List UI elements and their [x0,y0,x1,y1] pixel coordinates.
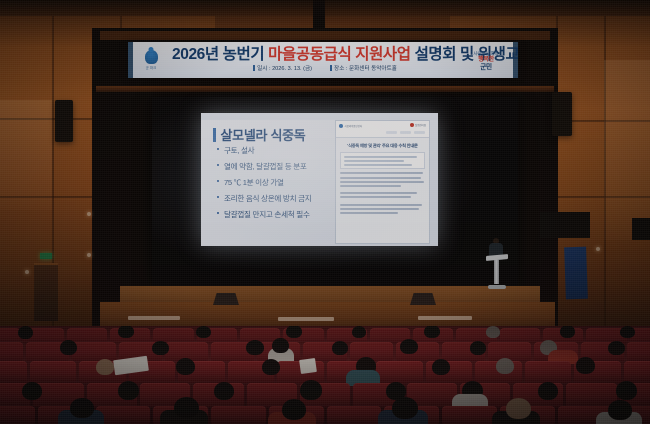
audience-head [214,382,234,400]
event-banner: 군 마크 2026년 농번기 마을공동급식 지원사업 설명회 및 위생교육 일시… [128,42,518,78]
audience-head [470,341,486,355]
banner-slogan: 사람중심 희망 행복한 군민 [463,48,509,72]
audience-head [70,398,94,418]
text-line [340,212,398,214]
audience-head [620,326,635,338]
bullet-tick-icon [330,65,332,71]
podium-base [488,285,506,289]
apron-panel-strip [128,316,180,320]
document-agency-logo-right: 질병관리청 [410,123,427,127]
seat [488,342,531,361]
banner-left-edge [128,42,133,78]
audience-head [424,326,440,338]
stage-monitor-wedge [213,293,239,305]
audience-head [300,380,322,400]
banner-date-label: 일시 : 2026. 3. 13. (금) [257,64,312,72]
document-header: 식품의약품안전처 질병관리청 [336,121,429,138]
banner-date: 일시 : 2026. 3. 13. (금) [253,64,312,72]
blue-wall-panel [564,247,588,300]
slide-top-band [201,113,438,120]
banner-place-label: 장소 : 문화센터 동악아트홀 [334,64,397,72]
slide-title: 살모넬라 식중독 [221,125,306,144]
county-emblem-logo: 군 마크 [137,47,165,73]
emblem-caption: 군 마크 [146,65,156,70]
audience-head [538,382,558,400]
auditorium-photo: 군 마크 2026년 농번기 마을공동급식 지원사업 설명회 및 위생교육 일시… [0,0,650,424]
slide-bullet-item: 열에 약함, 달걀껍질 등 분포 [217,161,342,172]
wall-dark-panel [632,218,650,240]
banner-title-part-1: 2026년 농번기 [172,46,268,63]
stage-monitor-wedge [410,293,436,305]
text-line [344,164,413,166]
audience-head [608,400,632,420]
audience-head [262,359,280,375]
audience-head [506,398,531,419]
banner-place: 장소 : 문화센터 동악아트홀 [330,64,397,72]
podium-column [494,260,499,284]
seat [72,342,115,361]
seat [30,361,77,383]
audience-head [152,341,169,355]
document-callout-box [340,152,425,169]
seat [211,406,266,424]
text-line [340,177,421,179]
slide-title-group: 살모넬라 식중독 [213,125,305,144]
audience-head [174,397,199,418]
handout-paper [299,358,317,374]
seat [627,342,650,361]
audience-area [0,326,650,424]
audience-head [400,339,418,354]
audience-head [60,340,77,355]
audience-head [196,326,211,338]
document-body [340,172,425,214]
wall-light-fixture [25,270,29,274]
seat [0,342,23,361]
wall-light-fixture [596,247,600,251]
text-line [344,160,405,162]
text-line [340,172,423,174]
nav-chip [386,131,397,134]
document-agency-logo-left: 식품의약품안전처 [339,124,362,128]
audience-head [432,359,450,375]
audience-head [332,341,348,355]
text-line [340,192,417,194]
exit-sign [40,253,52,259]
slogan-line-3: 군민 [480,64,492,71]
wall-seam [604,0,606,340]
slide-bullet-item: 75 ℃ 1분 이상 가열 [217,177,342,188]
text-line [340,181,424,183]
audience-head [246,340,264,355]
audience-head [18,326,33,339]
banner-title-part-2: 마을공동급식 지원사업 [268,46,411,63]
ceiling-shadow-band [0,0,650,16]
side-exit-door [34,263,58,321]
wall-speaker [552,92,572,136]
text-line [344,156,417,158]
text-line [340,204,422,206]
seat [624,361,650,383]
audience-head [392,397,418,419]
agency-emblem-icon [410,123,414,127]
audience-head [576,357,595,374]
seat [442,406,497,424]
seat [0,361,27,383]
banner-subtitle: 일시 : 2026. 3. 13. (금) 장소 : 문화센터 동악아트홀 [172,64,478,72]
slide-bullet-item: 구토, 설사 [217,145,342,156]
wall-speaker [55,100,73,142]
text-line [340,196,411,198]
proscenium-ledge [96,86,554,92]
wall-light-fixture [87,253,91,257]
audience-head [496,358,514,374]
apron-panel-strip [278,317,334,321]
slogan-line-1: 사람중심 희망 [473,50,498,57]
agency-emblem-icon [339,124,343,128]
audience-head [608,341,625,355]
text-line [340,208,419,210]
audience-head [118,326,134,338]
emblem-icon [145,50,158,64]
slide-bullet-item: 달걀껍질 만지고 손세척 필수 [217,209,342,220]
slide-title-accent-bar [213,128,216,142]
seat [0,406,35,424]
apron-panel-strip [418,316,472,320]
audience-head [118,381,139,400]
text-line [340,185,401,187]
wall-light-fixture [87,212,91,216]
seat [525,361,572,383]
slide-bullet-list: 구토, 설사 열에 약함, 달걀껍질 등 분포 75 ℃ 1분 이상 가열 조리… [217,145,342,225]
seat [376,361,423,383]
slide-bullet-item: 조리한 음식 상온에 방치 금지 [217,193,342,204]
audience-head [560,326,575,338]
slide-embedded-document: 식품의약품안전처 질병관리청 '식중독 예방 및 관리' 주요 대응 수칙 안내… [335,120,430,244]
audience-head [272,338,289,353]
document-nav-chips [386,131,425,134]
nav-chip [414,131,425,134]
audience-head [22,382,42,400]
proscenium-header-beam [100,31,550,40]
bullet-tick-icon [253,65,255,71]
wall-dark-panel [540,212,590,238]
document-title: '식중독 예방 및 관리' 주요 대응 수칙 안내문 [340,143,425,149]
audience-head [352,326,366,338]
document-agency-right-label: 질병관리청 [415,123,426,127]
audience-head [282,399,306,420]
presentation-slide: 살모넬라 식중독 구토, 설사 열에 약함, 달걀껍질 등 분포 75 ℃ 1분… [201,113,438,246]
audience-head [96,359,114,375]
document-agency-left-label: 식품의약품안전처 [345,124,363,128]
slogan-line-2: 행복한 [478,57,494,64]
banner-title: 2026년 농번기 마을공동급식 지원사업 설명회 및 위생교육 [172,45,478,64]
seat [327,406,382,424]
audience-head [176,358,195,375]
audience-head [286,326,302,338]
audience-head [486,326,500,338]
podium [486,255,508,289]
audience-head [616,381,637,400]
nav-chip [400,131,411,134]
